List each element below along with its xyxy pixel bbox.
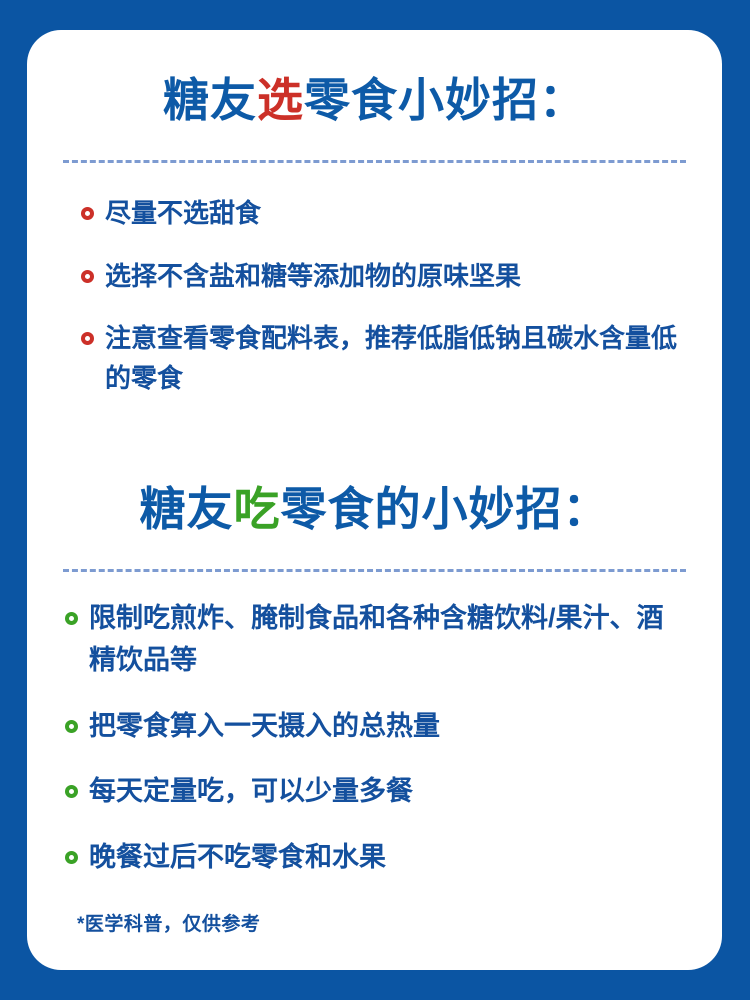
- ring-bullet-icon: [65, 785, 78, 798]
- disclaimer-footnote: *医学科普，仅供参考: [77, 909, 260, 936]
- section-2-heading-suffix: 零食的小妙招：: [281, 483, 610, 535]
- list-item-text: 限制吃煎炸、腌制食品和各种含糖饮料/果汁、酒精饮品等: [89, 598, 690, 682]
- list-item: 尽量不选甜食: [81, 193, 690, 233]
- list-item: 限制吃煎炸、腌制食品和各种含糖饮料/果汁、酒精饮品等: [65, 598, 690, 682]
- content-card: 糖友选零食小妙招： 尽量不选甜食 选择不含盐和糖等添加物的原味坚果 注意查看零食…: [27, 30, 722, 970]
- list-item-text: 晚餐过后不吃零食和水果: [89, 837, 690, 879]
- list-item: 晚餐过后不吃零食和水果: [65, 837, 690, 879]
- list-item-text: 注意查看零食配料表，推荐低脂低钠且碳水含量低的零食: [105, 318, 690, 399]
- list-item: 每天定量吃，可以少量多餐: [65, 771, 690, 813]
- section-1-heading-prefix: 糖友: [163, 74, 257, 126]
- list-item: 把零食算入一天摄入的总热量: [65, 706, 690, 748]
- section-2-divider: [63, 569, 686, 572]
- ring-bullet-icon: [81, 332, 94, 345]
- section-1-tip-list: 尽量不选甜食 选择不含盐和糖等添加物的原味坚果 注意查看零食配料表，推荐低脂低钠…: [59, 193, 690, 398]
- ring-bullet-icon: [81, 270, 94, 283]
- list-item: 选择不含盐和糖等添加物的原味坚果: [81, 256, 690, 296]
- ring-bullet-icon: [81, 207, 94, 220]
- section-2-heading-highlight: 吃: [234, 483, 281, 535]
- poster-background: 糖友选零食小妙招： 尽量不选甜食 选择不含盐和糖等添加物的原味坚果 注意查看零食…: [0, 0, 750, 1000]
- section-2-heading-prefix: 糖友: [140, 483, 234, 535]
- section-spacer: [59, 421, 690, 481]
- section-1-heading-highlight: 选: [257, 74, 304, 126]
- list-item-text: 把零食算入一天摄入的总热量: [89, 706, 690, 748]
- ring-bullet-icon: [65, 720, 78, 733]
- list-item-text: 尽量不选甜食: [105, 193, 690, 233]
- ring-bullet-icon: [65, 612, 78, 625]
- section-2-heading: 糖友吃零食的小妙招：: [59, 481, 690, 539]
- list-item-text: 每天定量吃，可以少量多餐: [89, 771, 690, 813]
- section-1-heading: 糖友选零食小妙招：: [59, 72, 690, 130]
- ring-bullet-icon: [65, 851, 78, 864]
- list-item-text: 选择不含盐和糖等添加物的原味坚果: [105, 256, 690, 296]
- section-1-heading-suffix: 零食小妙招：: [304, 74, 586, 126]
- section-2-tip-list: 限制吃煎炸、腌制食品和各种含糖饮料/果汁、酒精饮品等 把零食算入一天摄入的总热量…: [59, 598, 690, 879]
- list-item: 注意查看零食配料表，推荐低脂低钠且碳水含量低的零食: [81, 318, 690, 399]
- section-1-divider: [63, 160, 686, 163]
